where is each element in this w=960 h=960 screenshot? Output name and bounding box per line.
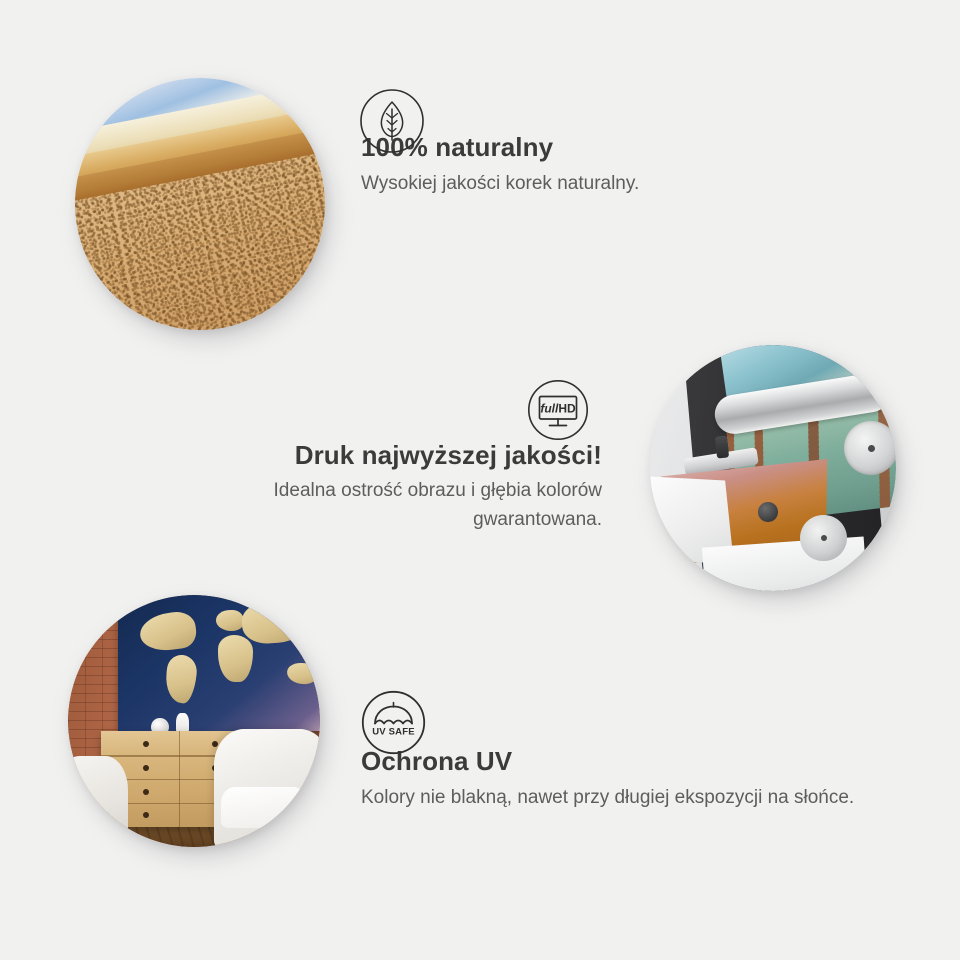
leaf-icon [359,88,425,154]
interior-world-map-photo [68,595,320,847]
feature-uv: Ochrona UV Kolory nie blakną, nawet przy… [361,688,861,812]
feature-print-description: Idealna ostrość obrazu i głębia kolorów … [170,476,602,534]
map-africa [218,635,253,682]
dresser-knob [143,812,149,818]
feature-natural-description: Wysokiej jakości korek naturalny. [361,170,781,197]
dresser-center-divider [179,731,181,827]
printing-machine-photo-inner [650,345,896,591]
map-asia [241,599,309,646]
dresser-knob [143,789,149,795]
printing-machine-photo [650,345,896,591]
press-knob [758,502,778,522]
press-roller-cap-bottom [800,515,847,562]
map-north-america [138,609,198,652]
fullhd-icon-label: fullHD [540,401,576,415]
feature-uv-title: Ochrona UV [361,745,861,777]
feature-uv-description: Kolory nie blakną, nawet przy długiej ek… [361,783,861,812]
map-europe [216,610,244,631]
dresser-knob [212,741,218,747]
map-australia [286,661,319,686]
uv-safe-icon-label: UV SAFE [372,727,415,738]
dresser-knob [143,765,149,771]
room-armchair-left [68,756,128,842]
feature-print-title: Druk najwyższej jakości! [170,439,602,471]
interior-world-map-photo-inner [68,595,320,847]
cork-board-photo-inner [75,78,325,330]
fullhd-monitor-icon: fullHD [527,379,589,441]
world-map-canvas [118,595,320,731]
uv-safe-umbrella-icon: UV SAFE [361,690,426,755]
press-roller-cap-right [844,421,896,475]
map-south-america [164,653,199,704]
cork-board-photo [75,78,325,330]
room-armchair-right [214,729,320,847]
feature-infographic: 100% naturalny Wysokiej jakości korek na… [0,0,960,960]
dresser-knob [143,741,149,747]
